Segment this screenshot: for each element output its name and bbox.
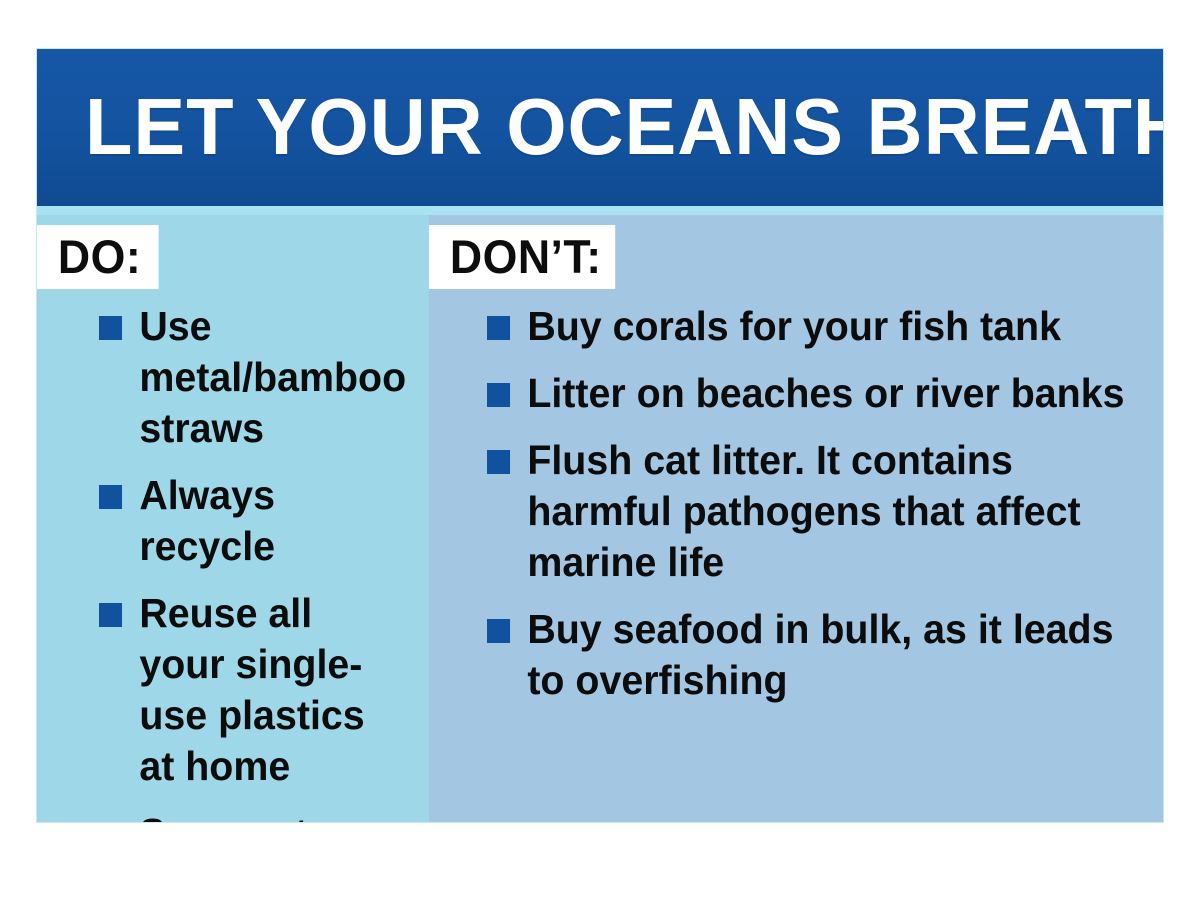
list-item-text: Buy corals for your fish tank — [527, 303, 1061, 349]
column-do: DO: Use metal/bamboo straws Always recyc… — [37, 215, 429, 822]
list-item: Always recycle — [99, 470, 406, 572]
square-bullet-icon — [487, 316, 510, 340]
list-item: Buy seafood in bulk, as it leads to over… — [487, 604, 1130, 706]
list-item-text: Segregate your waste to avoid it landing… — [139, 810, 393, 822]
list-item-text: Reuse all your single-use plastics at ho… — [139, 590, 364, 789]
list-item-text: Use metal/bamboo straws — [139, 303, 406, 451]
column-dont-heading: DON’T: — [429, 225, 615, 289]
list-item: Use metal/bamboo straws — [99, 301, 406, 454]
square-bullet-icon — [487, 383, 510, 407]
page-title: LET YOUR OCEANS BREATHE — [85, 87, 1163, 167]
column-dont: DON’T: Buy corals for your fish tank Lit… — [429, 215, 1163, 822]
infographic-card: LET YOUR OCEANS BREATHE DO: Use metal/ba… — [37, 49, 1163, 822]
dont-list: Buy corals for your fish tank Litter on … — [453, 301, 1163, 706]
column-do-heading: DO: — [37, 225, 158, 289]
square-bullet-icon — [487, 619, 510, 643]
list-item-text: Flush cat litter. It contains harmful pa… — [527, 437, 1080, 585]
columns-container: DO: Use metal/bamboo straws Always recyc… — [37, 215, 1163, 822]
list-item: Reuse all your single-use plastics at ho… — [99, 588, 406, 792]
square-bullet-icon — [99, 316, 122, 340]
header-underband-divider — [37, 206, 1163, 215]
square-bullet-icon — [99, 603, 122, 627]
list-item: Litter on beaches or river banks — [487, 368, 1130, 419]
list-item: Segregate your waste to avoid it landing… — [99, 808, 406, 822]
square-bullet-icon — [99, 485, 122, 509]
card-header: LET YOUR OCEANS BREATHE — [37, 49, 1163, 206]
list-item-text: Buy seafood in bulk, as it leads to over… — [527, 606, 1113, 703]
list-item-text: Litter on beaches or river banks — [527, 370, 1124, 416]
list-item-text: Always recycle — [139, 472, 275, 569]
do-list: Use metal/bamboo straws Always recycle R… — [63, 301, 429, 822]
list-item: Buy corals for your fish tank — [487, 301, 1130, 352]
page-canvas: LET YOUR OCEANS BREATHE DO: Use metal/ba… — [0, 0, 1200, 900]
list-item: Flush cat litter. It contains harmful pa… — [487, 435, 1130, 588]
square-bullet-icon — [487, 450, 510, 474]
